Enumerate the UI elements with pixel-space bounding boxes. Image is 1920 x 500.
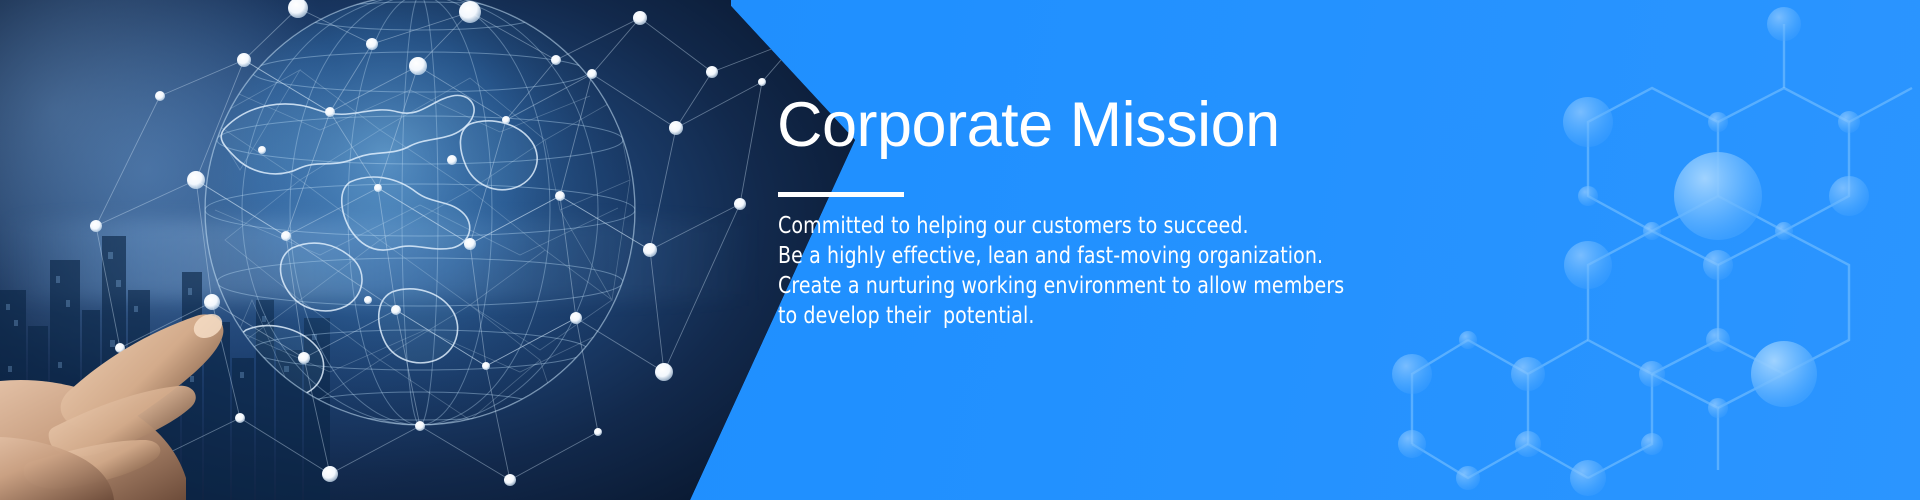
hand-silhouette — [0, 240, 420, 500]
mission-line: Create a nurturing working environment t… — [778, 270, 1354, 300]
mission-line: Committed to helping our customers to su… — [778, 210, 1354, 240]
text-content-block: Corporate Mission Committed to helping o… — [777, 0, 1537, 500]
mission-statement-list: Committed to helping our customers to su… — [778, 210, 1418, 330]
title-underline-rule — [778, 192, 904, 197]
corporate-mission-banner: Corporate Mission Committed to helping o… — [0, 0, 1920, 500]
mission-line: to develop their potential. — [778, 300, 1354, 330]
mission-line: Be a highly effective, lean and fast-mov… — [778, 240, 1354, 270]
page-title: Corporate Mission — [777, 92, 1280, 158]
